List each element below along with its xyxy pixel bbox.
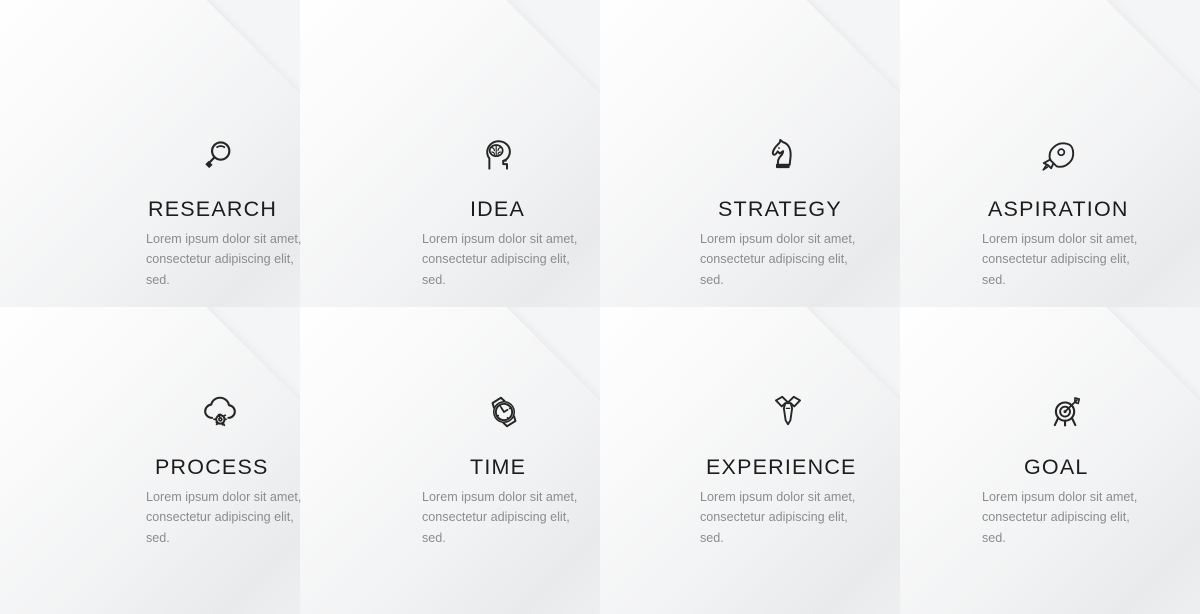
- necktie-icon: [766, 388, 810, 432]
- magnifier-icon: [196, 134, 240, 178]
- chess-knight-icon: [760, 132, 804, 176]
- brain-head-icon: [476, 134, 520, 178]
- panel-title-7: EXPERIENCE: [706, 455, 857, 480]
- panel-number-2: 2: [344, 42, 490, 257]
- panel-body-5: Lorem ipsum dolor sit amet, consectetur …: [146, 487, 314, 548]
- cloud-gear-icon: [198, 390, 242, 434]
- panel-body-4: Lorem ipsum dolor sit amet, consectetur …: [982, 229, 1150, 290]
- panel-title-4: ASPIRATION: [988, 197, 1129, 222]
- panel-title-5: PROCESS: [155, 455, 269, 480]
- wristwatch-icon: [482, 390, 526, 434]
- panel-body-3: Lorem ipsum dolor sit amet, consectetur …: [700, 229, 868, 290]
- panel-body-7: Lorem ipsum dolor sit amet, consectetur …: [700, 487, 868, 548]
- infographic-panel-6[interactable]: 6: [300, 307, 600, 614]
- panel-body-8: Lorem ipsum dolor sit amet, consectetur …: [982, 487, 1150, 548]
- panel-title-6: TIME: [470, 455, 526, 480]
- rocket-icon: [1036, 134, 1080, 178]
- panel-number-3: 3: [618, 42, 764, 257]
- panel-body-2: Lorem ipsum dolor sit amet, consectetur …: [422, 229, 590, 290]
- panel-title-2: IDEA: [470, 197, 525, 222]
- panel-title-3: STRATEGY: [718, 197, 842, 222]
- panel-title-8: GOAL: [1024, 455, 1089, 480]
- target-arrow-icon: [1044, 390, 1088, 434]
- panel-body-1: Lorem ipsum dolor sit amet, consectetur …: [146, 229, 314, 290]
- panel-title-1: RESEARCH: [148, 197, 277, 222]
- panel-body-6: Lorem ipsum dolor sit amet, consectetur …: [422, 487, 590, 548]
- panel-number-1: 1: [56, 42, 202, 257]
